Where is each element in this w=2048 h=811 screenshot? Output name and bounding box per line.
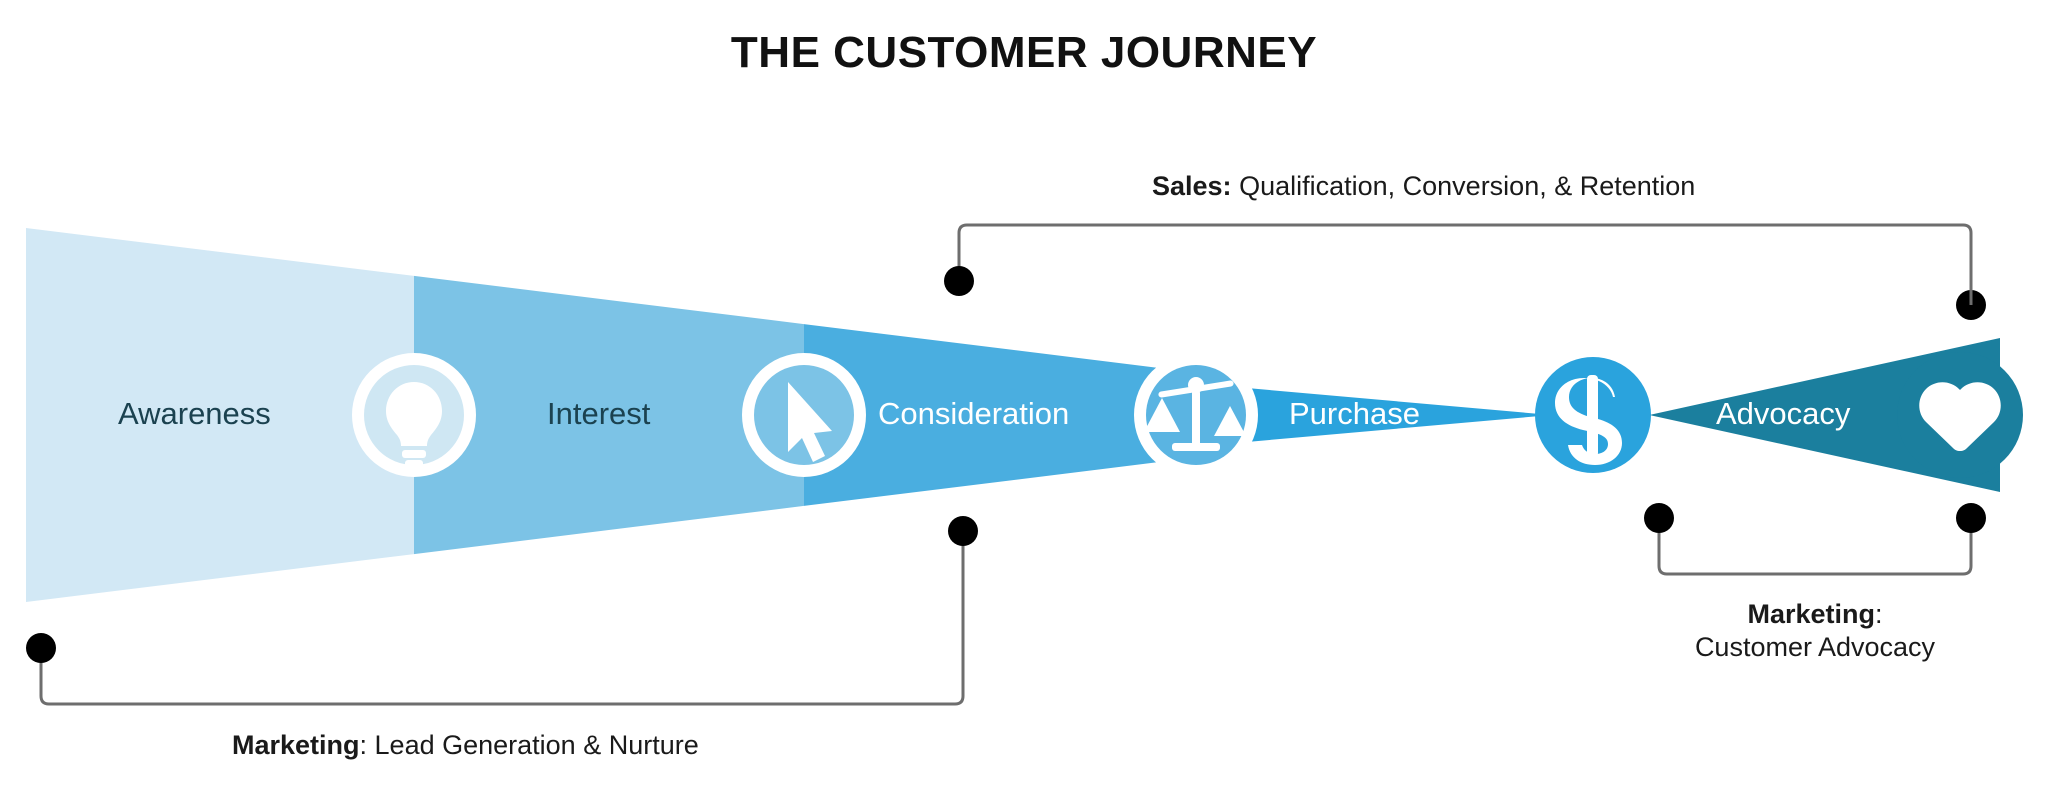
bracket-dot <box>1956 503 1986 533</box>
cursor-icon-group <box>742 353 866 477</box>
stage-label-purchase: Purchase <box>1289 396 1420 432</box>
dollar-icon-group <box>1535 357 1651 473</box>
bracket-dot <box>944 266 974 296</box>
marketing-right-line2: Customer Advocacy <box>1662 631 1968 664</box>
scales-icon-group <box>1134 353 1258 477</box>
stage-label-consideration: Consideration <box>878 396 1069 432</box>
marketing-left-annotation-rest: : Lead Generation & Nurture <box>360 730 699 760</box>
customer-journey-diagram: THE CUSTOMER JOURNEY <box>0 0 2048 811</box>
marketing-right-line1: Marketing: <box>1662 598 1968 631</box>
marketing-right-colon: : <box>1875 599 1883 629</box>
sales-bracket <box>944 225 1986 320</box>
sales-annotation: Sales: Qualification, Conversion, & Rete… <box>1152 170 1695 203</box>
lightbulb-icon-group <box>352 353 476 477</box>
sales-annotation-bold: Sales: <box>1152 171 1232 201</box>
bracket-dot <box>26 633 56 663</box>
marketing-left-annotation-bold: Marketing <box>232 730 360 760</box>
marketing-right-bracket <box>1644 503 1986 574</box>
stage-label-interest: Interest <box>547 396 650 432</box>
heart-icon-group <box>1897 352 2023 478</box>
bracket-dot <box>1644 503 1674 533</box>
marketing-right-annotation: Marketing: Customer Advocacy <box>1662 598 1968 664</box>
stage-label-advocacy: Advocacy <box>1716 396 1850 432</box>
marketing-left-annotation: Marketing: Lead Generation & Nurture <box>232 729 699 762</box>
marketing-right-bold: Marketing <box>1747 599 1875 629</box>
stage-label-awareness: Awareness <box>118 396 271 432</box>
bracket-dot <box>948 516 978 546</box>
sales-annotation-rest: Qualification, Conversion, & Retention <box>1232 171 1696 201</box>
